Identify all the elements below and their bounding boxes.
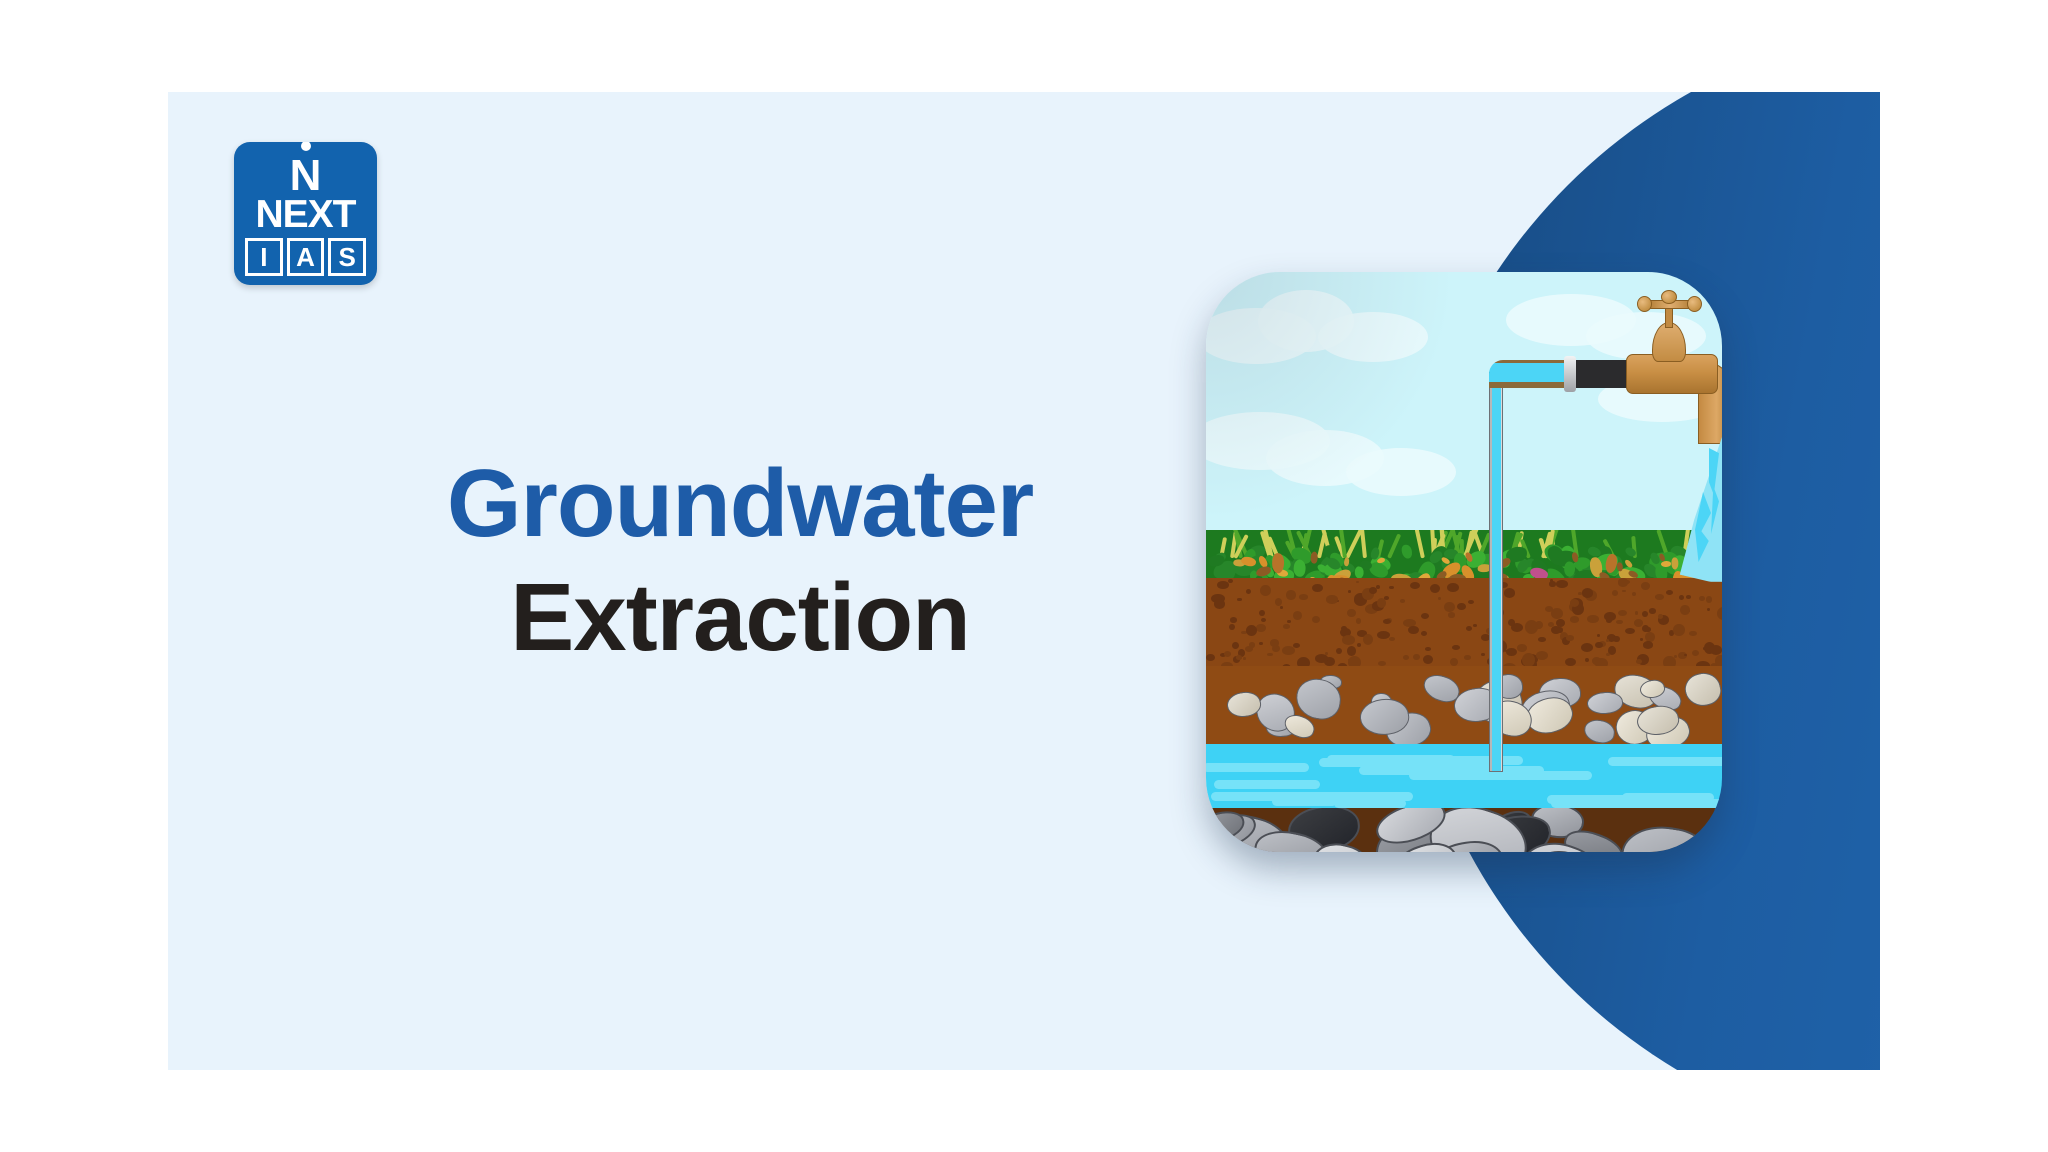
soil-speck xyxy=(1444,602,1455,613)
soil-speck xyxy=(1312,584,1324,593)
soil-speck xyxy=(1595,642,1603,649)
pebble xyxy=(1583,717,1617,745)
soil-speck xyxy=(1256,624,1266,632)
soil-speck xyxy=(1246,625,1258,636)
brand-logo-name: NEXT xyxy=(234,194,377,236)
soil-speck xyxy=(1377,631,1390,639)
soil-speck xyxy=(1679,595,1684,600)
soil-speck xyxy=(1506,648,1517,657)
soil-speck xyxy=(1597,634,1600,637)
soil-speck xyxy=(1383,619,1391,625)
soil-speck xyxy=(1232,642,1239,649)
water-streak xyxy=(1206,763,1309,772)
illustration-card xyxy=(1206,272,1722,852)
soil-speck xyxy=(1287,620,1290,623)
water-streak xyxy=(1608,757,1722,766)
soil-speck xyxy=(1710,645,1722,655)
soil-speck xyxy=(1237,598,1241,601)
soil-speck xyxy=(1312,616,1320,623)
soil-speck xyxy=(1425,647,1431,651)
slide-card: N NEXT I A S Groundwater Extraction xyxy=(168,92,1880,1070)
soil-speck xyxy=(1640,638,1643,641)
water-streak xyxy=(1214,780,1320,789)
soil-speck xyxy=(1680,605,1690,616)
grass-blade xyxy=(1387,534,1401,559)
soil-speck xyxy=(1293,611,1303,620)
soil-speck xyxy=(1369,587,1377,594)
soil-speck xyxy=(1582,588,1593,597)
soil-speck xyxy=(1468,600,1475,605)
aquifer-layer xyxy=(1206,744,1722,810)
soil-speck xyxy=(1642,611,1648,617)
soil-speck xyxy=(1686,595,1691,598)
soil-speck xyxy=(1604,612,1615,621)
soil-speck xyxy=(1286,590,1295,600)
soil-speck xyxy=(1536,651,1549,660)
soil-speck xyxy=(1326,595,1337,603)
grass-blade xyxy=(1359,530,1367,558)
topsoil-layer xyxy=(1206,578,1722,668)
soil-speck xyxy=(1551,626,1561,634)
soil-speck xyxy=(1229,624,1235,631)
soil-speck xyxy=(1243,657,1246,660)
soil-speck xyxy=(1706,596,1712,602)
soil-speck xyxy=(1421,631,1428,636)
soil-speck xyxy=(1645,627,1651,632)
page-title-line-1: Groundwater xyxy=(350,452,1130,556)
soil-speck xyxy=(1348,590,1351,593)
soil-speck xyxy=(1556,580,1568,588)
soil-speck xyxy=(1217,581,1229,589)
soil-speck xyxy=(1389,637,1395,641)
soil-speck xyxy=(1565,658,1576,666)
slide-canvas: N NEXT I A S Groundwater Extraction xyxy=(0,0,2048,1152)
soil-speck xyxy=(1245,646,1253,652)
soil-speck xyxy=(1643,641,1653,648)
brand-logo[interactable]: N NEXT I A S xyxy=(234,142,377,285)
soil-speck xyxy=(1625,628,1635,634)
pipe-elbow xyxy=(1489,360,1575,388)
hose-collar-left-icon xyxy=(1564,356,1576,392)
soil-speck xyxy=(1636,659,1642,664)
soil-speck xyxy=(1377,598,1386,608)
soil-speck xyxy=(1408,626,1419,634)
soil-speck xyxy=(1315,654,1328,663)
soil-speck xyxy=(1267,653,1273,657)
soil-speck xyxy=(1641,582,1651,590)
sky-layer xyxy=(1206,272,1722,542)
soil-speck xyxy=(1299,594,1308,600)
soil-speck xyxy=(1260,585,1271,596)
soil-speck xyxy=(1692,650,1699,656)
soil-speck xyxy=(1259,610,1265,617)
soil-speck xyxy=(1592,657,1601,665)
soil-speck xyxy=(1357,643,1361,647)
soil-speck xyxy=(1666,590,1673,595)
brand-logo-acronym-s: S xyxy=(328,238,366,276)
soil-speck xyxy=(1206,654,1215,661)
soil-speck xyxy=(1622,590,1625,592)
soil-speck xyxy=(1421,613,1429,619)
soil-speck xyxy=(1481,653,1485,656)
soil-speck xyxy=(1236,655,1242,659)
soil-speck xyxy=(1634,619,1644,627)
soil-speck xyxy=(1517,644,1527,652)
soil-speck xyxy=(1613,636,1620,643)
soil-speck xyxy=(1585,658,1589,662)
soil-speck xyxy=(1389,586,1394,590)
soil-speck xyxy=(1347,646,1356,656)
soil-speck xyxy=(1410,582,1420,589)
pebble xyxy=(1585,690,1624,716)
soil-speck xyxy=(1457,603,1466,610)
soil-speck xyxy=(1684,654,1687,656)
soil-speck xyxy=(1400,599,1405,603)
water-streak xyxy=(1272,797,1338,806)
soil-speck xyxy=(1566,635,1574,641)
soil-speck xyxy=(1356,581,1359,583)
water-streak xyxy=(1334,799,1406,808)
soil-speck xyxy=(1504,588,1515,597)
cloud-icon xyxy=(1586,312,1706,360)
soil-speck xyxy=(1525,620,1538,634)
pebble xyxy=(1681,669,1722,710)
tap-knob-top-icon xyxy=(1661,290,1677,304)
soil-speck xyxy=(1336,648,1342,654)
soil-speck xyxy=(1356,618,1362,624)
tap-stem xyxy=(1665,308,1673,328)
bedrock-layer xyxy=(1206,808,1722,852)
soil-speck xyxy=(1342,635,1355,645)
cloud-icon xyxy=(1318,312,1428,362)
subsoil-layer xyxy=(1206,666,1722,746)
soil-speck xyxy=(1707,608,1710,611)
soil-speck xyxy=(1447,583,1458,592)
brand-logo-acronym-i: I xyxy=(245,238,283,276)
soil-speck xyxy=(1717,607,1722,620)
soil-speck xyxy=(1689,631,1697,637)
soil-speck xyxy=(1403,655,1410,660)
soil-speck xyxy=(1466,626,1472,631)
soil-speck xyxy=(1655,594,1663,600)
soil-speck xyxy=(1618,610,1627,616)
water-gush xyxy=(1675,434,1722,582)
cloud-icon xyxy=(1346,448,1456,496)
soil-speck xyxy=(1649,608,1656,613)
soil-speck xyxy=(1632,592,1636,596)
brand-logo-acronym: I A S xyxy=(245,238,366,276)
soil-speck xyxy=(1246,589,1251,594)
soil-speck xyxy=(1452,645,1460,650)
soil-speck xyxy=(1606,639,1610,642)
soil-speck xyxy=(1283,624,1290,630)
soil-speck xyxy=(1551,608,1564,619)
soil-speck xyxy=(1606,653,1610,656)
soil-speck xyxy=(1450,658,1458,666)
soil-speck xyxy=(1363,634,1373,645)
soil-speck xyxy=(1635,611,1638,615)
page-title: Groundwater Extraction xyxy=(350,452,1130,670)
page-title-line-2: Extraction xyxy=(350,566,1130,670)
soil-speck xyxy=(1673,624,1685,636)
soil-speck xyxy=(1549,581,1555,586)
standpipe xyxy=(1489,372,1503,772)
dry-leaf xyxy=(1617,562,1623,571)
water-streak xyxy=(1319,758,1502,767)
soil-speck xyxy=(1275,598,1282,606)
tap-knob-right-icon xyxy=(1687,296,1702,312)
soil-speck xyxy=(1473,624,1477,627)
soil-speck xyxy=(1464,655,1472,660)
leaf xyxy=(1354,566,1364,579)
soil-speck xyxy=(1570,616,1580,622)
soil-speck xyxy=(1612,590,1618,596)
soil-speck xyxy=(1587,615,1599,623)
soil-speck xyxy=(1259,642,1262,645)
soil-speck xyxy=(1228,579,1233,583)
soil-speck xyxy=(1538,637,1545,642)
soil-speck xyxy=(1282,646,1294,655)
soil-speck xyxy=(1261,618,1266,622)
soil-speck xyxy=(1508,619,1515,626)
illustration-scene xyxy=(1206,272,1722,852)
soil-speck xyxy=(1430,584,1440,593)
soil-speck xyxy=(1570,599,1580,607)
soil-speck xyxy=(1616,620,1622,624)
brand-logo-acronym-a: A xyxy=(287,238,325,276)
dry-leaf xyxy=(1309,551,1318,564)
soil-speck xyxy=(1280,606,1283,609)
soil-speck xyxy=(1581,643,1593,652)
soil-speck xyxy=(1438,597,1442,600)
tap-knob-left-icon xyxy=(1637,296,1652,312)
soil-speck xyxy=(1618,578,1629,586)
soil-speck xyxy=(1699,596,1705,601)
dry-leaf xyxy=(1661,560,1671,566)
grass-blade xyxy=(1415,530,1425,558)
soil-speck xyxy=(1230,617,1237,622)
soil-speck xyxy=(1448,612,1455,618)
vegetation-layer xyxy=(1206,530,1722,582)
soil-speck xyxy=(1214,599,1225,609)
soil-speck xyxy=(1224,651,1231,657)
soil-speck xyxy=(1522,653,1535,667)
water-streak xyxy=(1547,795,1664,804)
leaf xyxy=(1401,545,1413,560)
soil-speck xyxy=(1413,654,1420,660)
soil-speck xyxy=(1578,592,1582,595)
soil-speck xyxy=(1347,609,1355,617)
soil-speck xyxy=(1423,655,1433,664)
